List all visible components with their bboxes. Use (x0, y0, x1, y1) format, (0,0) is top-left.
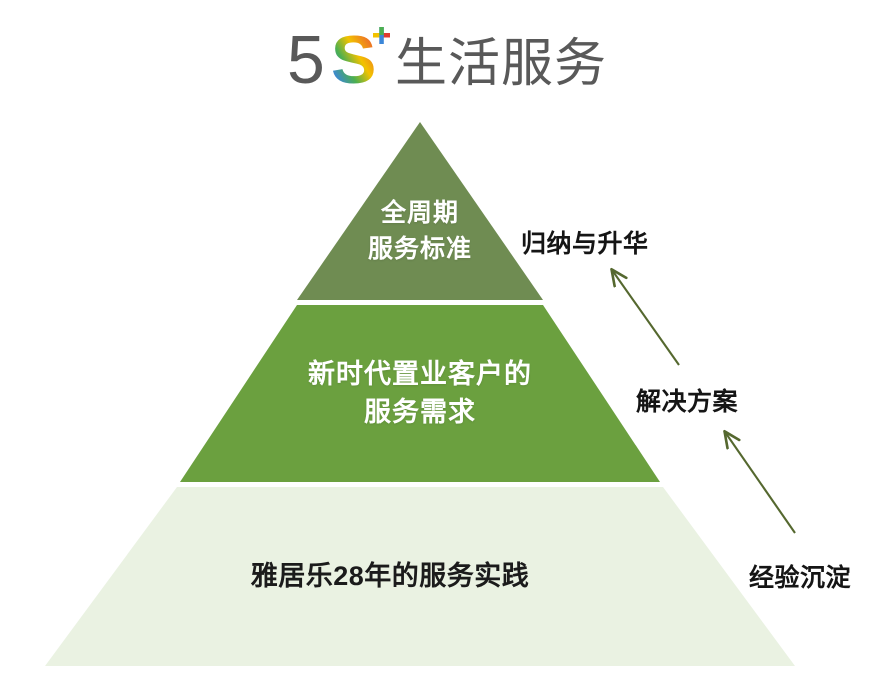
annotation-label-middle: 解决方案 (636, 382, 738, 418)
annotation-label-bottom: 经验沉淀 (749, 558, 851, 594)
annotation-label-top: 归纳与升华 (521, 224, 649, 260)
pyramid-tier-3-label: 雅居乐28年的服务实践 (180, 557, 600, 595)
pyramid-tier-1-label: 全周期 服务标准 (300, 196, 540, 267)
pyramid-tier-2-label: 新时代置业客户的 服务需求 (230, 355, 610, 432)
slide-canvas: 5 S 生活服务 全周期 服务标准 新时代置业客户的 服务需求 雅居乐28年的服… (0, 0, 889, 687)
